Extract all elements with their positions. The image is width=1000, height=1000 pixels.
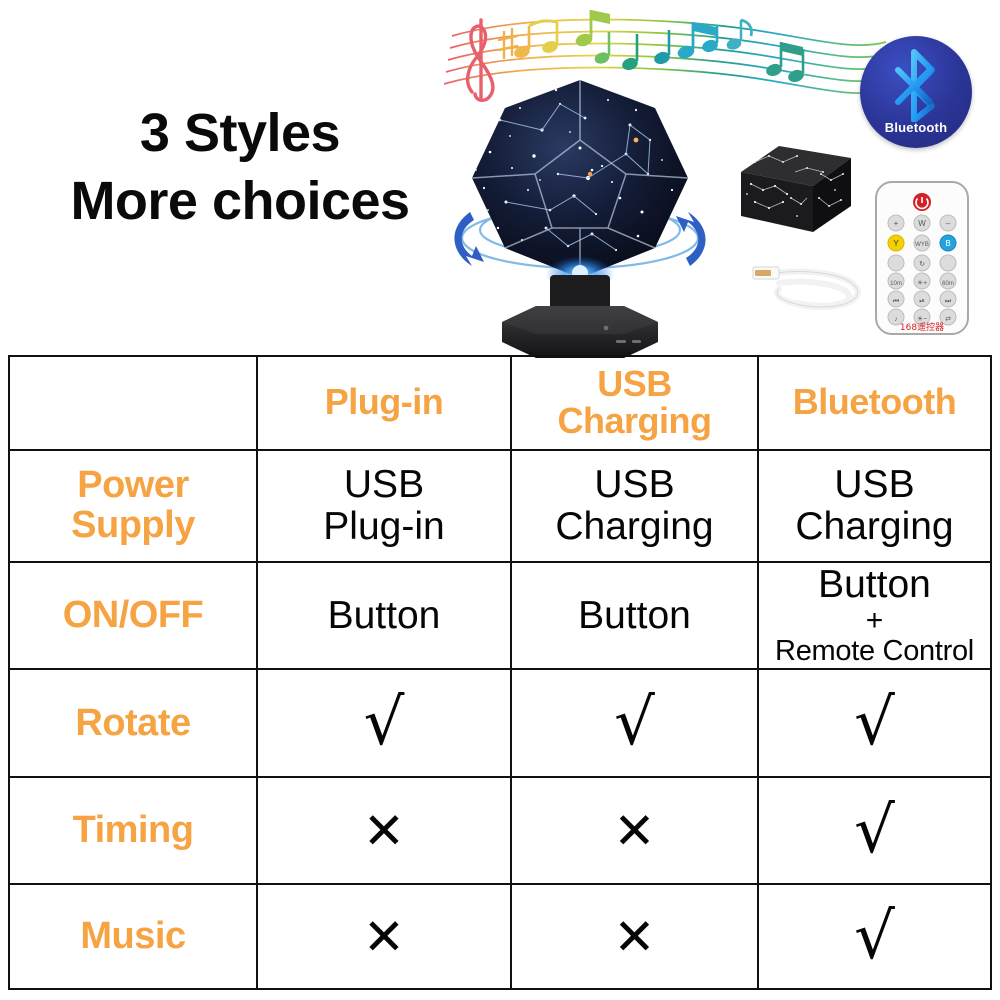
svg-text:–: – bbox=[946, 219, 951, 228]
row-label-on-off: ON/OFF bbox=[9, 562, 257, 670]
svg-text:♪: ♪ bbox=[894, 316, 898, 323]
column-header-bluetooth-line-1: Bluetooth bbox=[793, 381, 956, 422]
check-icon: √ bbox=[854, 905, 895, 969]
cell-on-off-bluetooth: Button + Remote Control bbox=[758, 562, 991, 670]
svg-text:60m: 60m bbox=[942, 281, 954, 287]
cell-power-supply-bluetooth: USB Charging bbox=[758, 450, 991, 562]
cell-music-bluetooth: √ bbox=[758, 884, 991, 989]
cell-on-off-bluetooth-line-3: Remote Control bbox=[761, 636, 988, 667]
table-header-row: Plug-in USB Charging Bluetooth bbox=[9, 356, 991, 450]
row-label-music-text: Music bbox=[80, 915, 185, 957]
table-row-power-supply: Power Supply USB Plug-in USB Charging US… bbox=[9, 450, 991, 562]
cell-on-off-bluetooth-line-2: + bbox=[761, 606, 988, 636]
constellation-gift-box bbox=[735, 128, 857, 240]
cell-on-off-plug-in: Button bbox=[257, 562, 511, 670]
hero-banner: 3 Styles More choices bbox=[0, 0, 1000, 355]
cell-rotate-bluetooth: √ bbox=[758, 669, 991, 777]
table-row-on-off: ON/OFF Button Button Button + Remote Con… bbox=[9, 562, 991, 670]
table-row-timing: Timing ✕ ✕ √ bbox=[9, 777, 991, 884]
cell-on-off-usb-charging-text: Button bbox=[578, 594, 691, 637]
comparison-table: Plug-in USB Charging Bluetooth Power Sup… bbox=[8, 355, 992, 990]
cell-on-off-plug-in-text: Button bbox=[328, 594, 441, 637]
cell-power-supply-plug-in-line-1: USB bbox=[260, 464, 508, 505]
svg-text:WYB: WYB bbox=[915, 242, 929, 248]
cross-icon: ✕ bbox=[363, 806, 405, 856]
cross-icon: ✕ bbox=[363, 912, 405, 962]
row-label-timing: Timing bbox=[9, 777, 257, 884]
table-row-music: Music ✕ ✕ √ bbox=[9, 884, 991, 989]
check-icon: √ bbox=[854, 691, 895, 755]
cross-icon: ✕ bbox=[614, 806, 656, 856]
column-header-usb-charging-line-1: USB bbox=[514, 366, 755, 403]
column-header-plug-in-line-1: Plug-in bbox=[325, 381, 443, 422]
cell-power-supply-usb-charging-line-2: Charging bbox=[514, 506, 755, 547]
page-title: 3 Styles More choices bbox=[40, 100, 440, 235]
remote-control: +W– YWYBB ↻ 10m☀+60m ⏮⏯⏭ ♪☀−⇄ 168遥控器 bbox=[872, 178, 972, 338]
bluetooth-badge: Bluetooth bbox=[860, 36, 972, 148]
cell-music-usb-charging: ✕ bbox=[511, 884, 758, 989]
headline-line-1: 3 Styles bbox=[40, 100, 440, 168]
cell-music-plug-in: ✕ bbox=[257, 884, 511, 989]
table-row-rotate: Rotate √ √ √ bbox=[9, 669, 991, 777]
svg-text:☀−: ☀− bbox=[917, 315, 927, 323]
row-label-timing-text: Timing bbox=[73, 809, 194, 851]
row-label-rotate: Rotate bbox=[9, 669, 257, 777]
cross-icon: ✕ bbox=[614, 912, 656, 962]
cell-timing-bluetooth: √ bbox=[758, 777, 991, 884]
svg-text:B: B bbox=[945, 239, 950, 248]
svg-text:Y: Y bbox=[893, 239, 899, 248]
svg-text:↻: ↻ bbox=[919, 261, 925, 268]
svg-text:⏭: ⏭ bbox=[945, 298, 952, 305]
usb-cable bbox=[745, 245, 870, 325]
svg-text:☀+: ☀+ bbox=[917, 279, 927, 287]
check-icon: √ bbox=[854, 799, 895, 863]
cell-rotate-plug-in: √ bbox=[257, 669, 511, 777]
svg-text:⇄: ⇄ bbox=[945, 316, 951, 323]
row-label-power-supply: Power Supply bbox=[9, 450, 257, 562]
cell-on-off-usb-charging: Button bbox=[511, 562, 758, 670]
cell-on-off-bluetooth-line-1: Button bbox=[761, 564, 988, 605]
star-projector-lamp bbox=[440, 70, 720, 360]
column-header-bluetooth: Bluetooth bbox=[758, 356, 991, 450]
row-label-on-off-text: ON/OFF bbox=[63, 594, 204, 636]
bluetooth-badge-label: Bluetooth bbox=[860, 120, 972, 135]
table-corner-cell bbox=[9, 356, 257, 450]
remote-model-text: 168遥控器 bbox=[900, 321, 944, 333]
bluetooth-icon bbox=[888, 48, 944, 122]
cell-power-supply-usb-charging: USB Charging bbox=[511, 450, 758, 562]
column-header-usb-charging-line-2: Charging bbox=[514, 403, 755, 440]
cell-power-supply-usb-charging-line-1: USB bbox=[514, 464, 755, 505]
column-header-usb-charging: USB Charging bbox=[511, 356, 758, 450]
row-label-power-supply-line-2: Supply bbox=[12, 506, 254, 546]
column-header-plug-in: Plug-in bbox=[257, 356, 511, 450]
svg-text:⏯: ⏯ bbox=[919, 298, 925, 305]
cell-rotate-usb-charging: √ bbox=[511, 669, 758, 777]
cell-power-supply-bluetooth-line-2: Charging bbox=[761, 506, 988, 547]
row-label-music: Music bbox=[9, 884, 257, 989]
svg-text:+: + bbox=[894, 219, 899, 228]
row-label-rotate-text: Rotate bbox=[75, 702, 190, 744]
cell-power-supply-bluetooth-line-1: USB bbox=[761, 464, 988, 505]
headline-line-2: More choices bbox=[40, 168, 440, 236]
cell-power-supply-plug-in-line-2: Plug-in bbox=[260, 506, 508, 547]
cell-timing-plug-in: ✕ bbox=[257, 777, 511, 884]
svg-text:⏮: ⏮ bbox=[893, 298, 899, 305]
svg-text:W: W bbox=[918, 219, 926, 228]
svg-text:10m: 10m bbox=[890, 281, 902, 287]
row-label-power-supply-line-1: Power bbox=[12, 466, 254, 506]
cell-power-supply-plug-in: USB Plug-in bbox=[257, 450, 511, 562]
check-icon: √ bbox=[364, 691, 405, 755]
check-icon: √ bbox=[614, 691, 655, 755]
cell-timing-usb-charging: ✕ bbox=[511, 777, 758, 884]
